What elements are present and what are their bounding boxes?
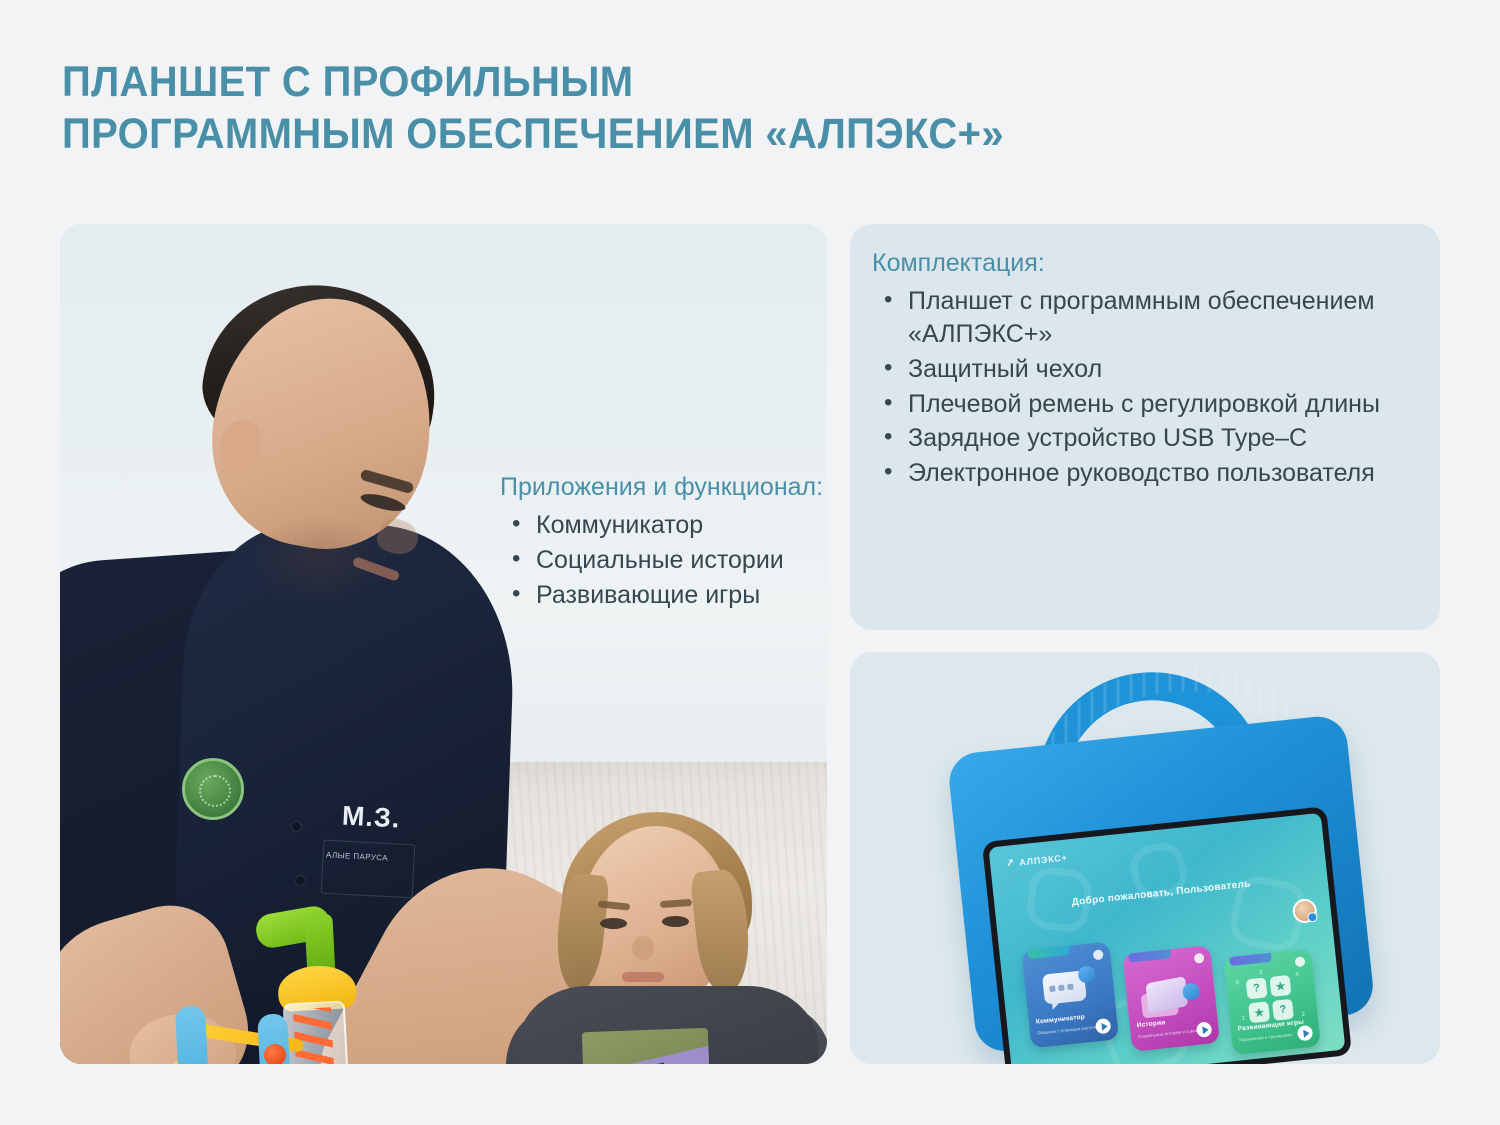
list-item: Плечевой ремень с регулировкой длины bbox=[872, 388, 1428, 421]
product-panel: ➚ АЛПЭКС+ Добро пожаловать, Пользователь bbox=[850, 652, 1440, 1064]
game-number: 6 bbox=[1236, 980, 1240, 986]
toy-tube bbox=[283, 1000, 352, 1064]
apps-text-block: Приложения и функционал: Коммуникатор Со… bbox=[500, 472, 827, 614]
speaker-icon bbox=[1077, 965, 1096, 984]
apps-list: Коммуникатор Социальные истории Развиваю… bbox=[500, 509, 827, 611]
toy-gear-icon bbox=[264, 1044, 286, 1064]
app-card-list: Коммуникатор Общение с помощью карточек bbox=[1020, 910, 1328, 1064]
tablet-screen: ➚ АЛПЭКС+ Добро пожаловать, Пользователь bbox=[988, 813, 1345, 1064]
card-tab bbox=[1027, 942, 1070, 959]
kit-heading: Комплектация: bbox=[872, 248, 1428, 279]
organization-badge-icon bbox=[182, 758, 244, 820]
card-tab bbox=[1128, 945, 1171, 962]
game-grid-icon: ? ★ ★ ? bbox=[1246, 975, 1294, 1023]
child-eye bbox=[662, 916, 689, 927]
list-item: Развивающие игры bbox=[500, 579, 827, 612]
tablet-bezel: ➚ АЛПЭКС+ Добро пожаловать, Пользователь bbox=[982, 806, 1352, 1064]
page-title-line-1: ПЛАНШЕТ С ПРОФИЛЬНЫМ bbox=[62, 56, 1299, 108]
game-tile: ? bbox=[1246, 977, 1268, 999]
child-tshirt-graphic: BE A FORCE OF NATURE bbox=[582, 1028, 712, 1064]
protective-case: ➚ АЛПЭКС+ Добро пожаловать, Пользователь bbox=[940, 652, 1376, 1058]
app-card-stories[interactable]: Истории Социальные истории и сценарии bbox=[1122, 945, 1220, 1052]
play-button[interactable] bbox=[1095, 1018, 1111, 1034]
child-mouth bbox=[622, 972, 664, 982]
app-card-communicator[interactable]: Коммуникатор Общение с помощью карточек bbox=[1021, 942, 1119, 1049]
arrow-up-right-icon: ➚ bbox=[1005, 856, 1017, 869]
game-number: 1 bbox=[1241, 1016, 1245, 1022]
shirt-button bbox=[292, 822, 301, 831]
product-photo: ➚ АЛПЭКС+ Добро пожаловать, Пользователь bbox=[850, 652, 1440, 1064]
specialist-jaw-shadow bbox=[250, 514, 390, 604]
kit-text-block: Комплектация: Планшет с программным обес… bbox=[872, 248, 1428, 492]
list-item: Электронное руководство пользователя bbox=[872, 457, 1428, 490]
photo-panel: М.З. АЛЫЕ ПАРУСА bbox=[60, 224, 827, 1064]
gear-icon[interactable] bbox=[1194, 953, 1205, 964]
game-tile: ★ bbox=[1248, 1001, 1270, 1023]
game-tile: ? bbox=[1272, 999, 1294, 1021]
specialist-initials: М.З. bbox=[341, 800, 401, 834]
game-number: 3 bbox=[1259, 970, 1263, 976]
list-item: Социальные истории bbox=[500, 544, 827, 577]
classroom-photo: М.З. АЛЫЕ ПАРУСА bbox=[60, 224, 827, 1064]
apps-heading: Приложения и функционал: bbox=[500, 472, 827, 503]
gear-icon[interactable] bbox=[1093, 949, 1104, 960]
play-button[interactable] bbox=[1297, 1025, 1313, 1041]
list-item: Коммуникатор bbox=[500, 509, 827, 542]
kit-list: Планшет с программным обеспечением «АЛПЭ… bbox=[872, 285, 1428, 490]
toy-spiral bbox=[293, 1007, 337, 1064]
game-number: 4 bbox=[1295, 972, 1299, 978]
shirt-button bbox=[296, 876, 305, 885]
app-card-games[interactable]: 6 3 4 1 2 ? ★ ★ ? bbox=[1223, 949, 1321, 1056]
case-body: ➚ АЛПЭКС+ Добро пожаловать, Пользователь bbox=[947, 714, 1376, 1054]
child-eye bbox=[600, 918, 627, 929]
card-tab bbox=[1229, 949, 1272, 966]
list-item: Планшет с программным обеспечением «АЛПЭ… bbox=[872, 285, 1428, 351]
game-tile: ★ bbox=[1269, 975, 1291, 997]
list-item: Зарядное устройство USB Type–C bbox=[872, 422, 1428, 455]
list-item: Защитный чехол bbox=[872, 353, 1428, 386]
app-brand-text: АЛПЭКС+ bbox=[1019, 852, 1068, 867]
game-number: 2 bbox=[1301, 1012, 1305, 1018]
app-brand-logo: ➚ АЛПЭКС+ bbox=[1006, 852, 1069, 869]
page-title-line-2: ПРОГРАММНЫМ ОБЕСПЕЧЕНИЕМ «АЛПЭКС+» bbox=[62, 108, 1299, 160]
shirt-chest-pocket bbox=[321, 840, 416, 899]
story-screen-icon bbox=[1145, 976, 1188, 1013]
child-nose bbox=[632, 936, 654, 960]
slide-root: ПЛАНШЕТ С ПРОФИЛЬНЫМ ПРОГРАММНЫМ ОБЕСПЕЧ… bbox=[0, 0, 1500, 1125]
speaker-icon bbox=[1182, 982, 1201, 1001]
play-button[interactable] bbox=[1196, 1021, 1212, 1037]
gear-icon[interactable] bbox=[1295, 956, 1306, 967]
page-title: ПЛАНШЕТ С ПРОФИЛЬНЫМ ПРОГРАММНЫМ ОБЕСПЕЧ… bbox=[62, 56, 1299, 161]
